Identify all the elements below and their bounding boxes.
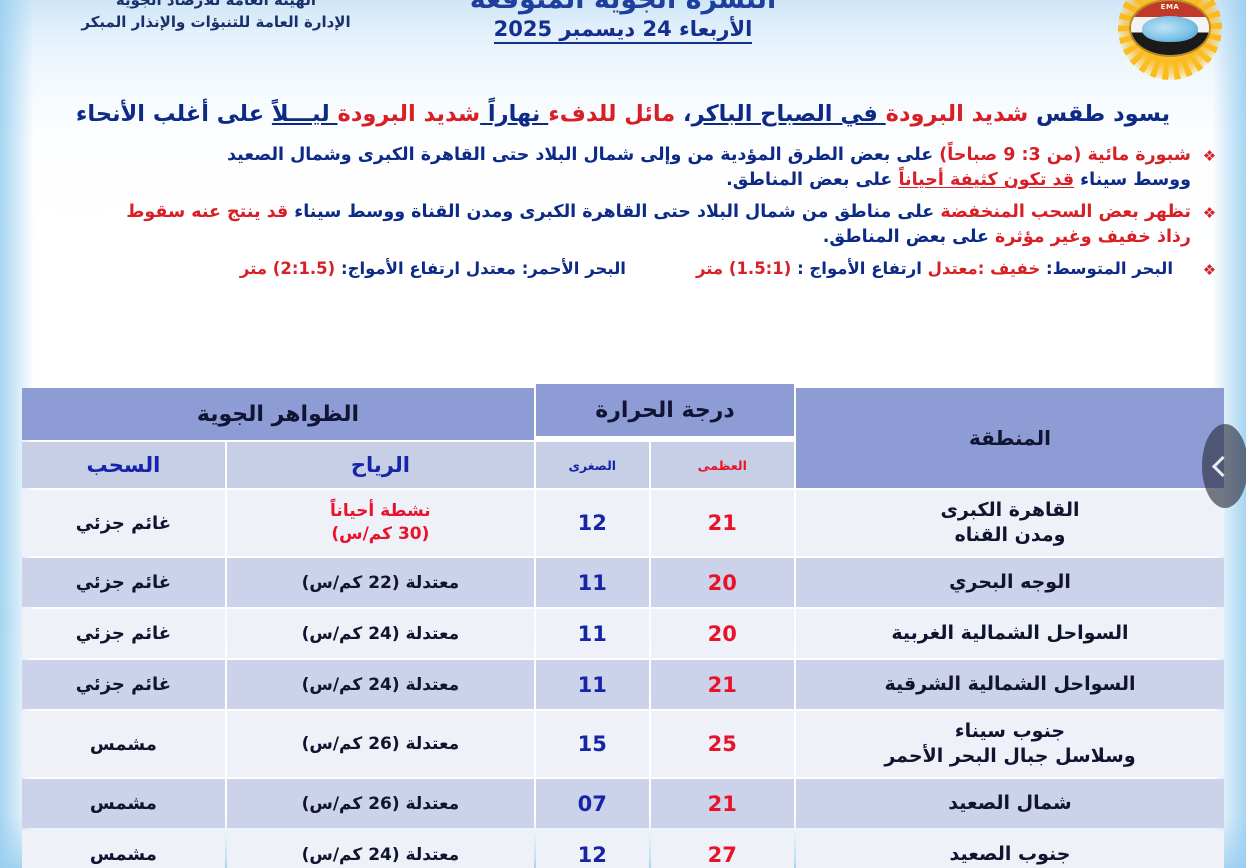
table-row: الوجه البحري2011معتدلة (22 كم/س)غائم جزئ… [22,558,1224,607]
cell-max-temp: 21 [651,779,794,828]
cell-cloud: مشمس [22,711,225,777]
bullet-sea-state: ❖ البحر المتوسط: خفيف :معتدل ارتفاع الأم… [20,257,1218,280]
mediterranean-state-value: خفيف :معتدل [928,259,1041,278]
redsea-label: البحر الأحمر: [522,259,626,278]
cell-max-temp: 21 [651,490,794,556]
cell-wind: معتدلة (26 كم/س) [227,779,534,828]
forecast-table-head: المنطقة درجة الحرارة الظواهر الجوية العظ… [22,388,1224,488]
headline-cold-2: شديد البرودة [338,101,481,127]
clouds-text-1: على مناطق من شمال البلاد حتى القاهرة الك… [288,202,940,222]
chevron-right-icon [1211,455,1232,476]
cloud-icon [1142,16,1198,42]
cell-min-temp: 11 [536,609,649,658]
bulletin-date: الأربعاء 24 ديسمبر 2025 [494,17,753,44]
clouds-text-2: على بعض المناطق. [823,227,995,247]
table-row: جنوب سيناءوسلاسل جبال البحر الأحمر2515مع… [22,711,1224,777]
forecast-table-body: القاهرة الكبرىومدن القناه2112نشطة أحيانا… [22,490,1224,868]
table-row: السواحل الشمالية الغربية2011معتدلة (24 ك… [22,609,1224,658]
cell-wind: معتدلة (24 كم/س) [227,830,534,868]
cell-max-temp: 27 [651,830,794,868]
agency-name-block: الهيئة العامة للأرصاد الجوية الإدارة الع… [66,0,366,34]
mediterranean-label: البحر المتوسط: [1046,259,1173,278]
headline-part-9: على أغلب الأنحاء [76,101,272,127]
headline-part-3: في الصباح الباكر [692,101,886,127]
col-header-max-temp: العظمى [651,442,794,488]
cell-cloud: غائم جزئي [22,490,225,556]
egyptian-meteorological-authority-logo: EMA [1116,0,1224,70]
col-header-temperature: درجة الحرارة [536,384,794,436]
table-row: السواحل الشمالية الشرقية2111معتدلة (24 ك… [22,660,1224,709]
carousel-next-button[interactable] [1202,424,1246,508]
table-row: القاهرة الكبرىومدن القناه2112نشطة أحيانا… [22,490,1224,556]
fog-text-3: على بعض المناطق. [726,170,898,190]
headline-part-8: ليـــلاً [272,101,338,127]
clouds-title: تظهر بعض السحب المنخفضة [940,202,1191,222]
redsea-wave-value: (2:1.5) متر [240,259,335,278]
cell-cloud: مشمس [22,830,225,868]
cell-min-temp: 12 [536,490,649,556]
group-header-row: المنطقة درجة الحرارة الظواهر الجوية [22,388,1224,440]
table-row: شمال الصعيد2107معتدلة (26 كم/س)مشمس [22,779,1224,828]
fog-text-2: ووسط سيناء [1074,170,1191,190]
cell-max-temp: 21 [651,660,794,709]
col-header-phenomena: الظواهر الجوية [22,388,534,440]
headline-part-1: يسود طقس [1028,101,1170,127]
cell-wind: نشطة أحياناً(30 كم/س) [227,490,534,556]
cell-wind: معتدلة (26 كم/س) [227,711,534,777]
bullet-low-clouds: ❖ تظهر بعض السحب المنخفضة على مناطق من ش… [20,200,1218,250]
diamond-bullet-icon: ❖ [1201,146,1218,166]
cell-region: القاهرة الكبرىومدن القناه [796,490,1224,556]
bullet-fog: ❖ شبورة مائية (من 3: 9 صباحاً) على بعض ا… [20,143,1218,193]
forecast-table-container: المنطقة درجة الحرارة الظواهر الجوية العظ… [20,386,1226,844]
emblem-badge: EMA [1131,1,1209,55]
cell-min-temp: 07 [536,779,649,828]
col-header-cloud: السحب [22,442,225,488]
cell-max-temp: 25 [651,711,794,777]
col-header-min-temp: الصغرى [536,442,649,488]
headline-part-4: ، [675,101,691,127]
drizzle-warning: رذاذ خفيف وغير مؤثرة [995,227,1191,247]
bullet-fog-body: شبورة مائية (من 3: 9 صباحاً) على بعض الط… [20,143,1191,193]
headline-part-6: نهاراً [480,101,548,127]
clouds-result: قد ينتج عنه سقوط [126,202,288,222]
headline-cold-1: شديد البرودة [886,101,1029,127]
fog-text-1: على بعض الطرق المؤدية من وإلى شمال البلا… [227,145,939,165]
cell-min-temp: 15 [536,711,649,777]
agency-line-2: الإدارة العامة للتنبؤات والإنذار المبكر [66,12,366,34]
cell-cloud: غائم جزئي [22,660,225,709]
cell-cloud: غائم جزئي [22,558,225,607]
cell-min-temp: 11 [536,660,649,709]
headline-summary: يسود طقس شديد البرودة في الصباح الباكر، … [34,100,1212,129]
bullet-low-clouds-body: تظهر بعض السحب المنخفضة على مناطق من شما… [20,200,1191,250]
bullet-sea-body: البحر المتوسط: خفيف :معتدل ارتفاع الأموا… [20,257,1191,280]
cell-min-temp: 12 [536,830,649,868]
emblem-label: EMA [1131,3,1209,11]
mediterranean-sea-state: البحر المتوسط: خفيف :معتدل ارتفاع الأموا… [696,257,1173,280]
diamond-bullet-icon: ❖ [1201,203,1218,223]
fog-time-range: شبورة مائية (من 3: 9 صباحاً) [939,145,1191,165]
table-row: جنوب الصعيد2712معتدلة (24 كم/س)مشمس [22,830,1224,868]
cell-cloud: مشمس [22,779,225,828]
mediterranean-wave-value: (1.5:1) متر [696,259,791,278]
cell-min-temp: 11 [536,558,649,607]
cell-region: السواحل الشمالية الغربية [796,609,1224,658]
cell-max-temp: 20 [651,558,794,607]
bullet-list: ❖ شبورة مائية (من 3: 9 صباحاً) على بعض ا… [20,143,1218,280]
red-sea-state: البحر الأحمر: معتدل ارتفاع الأمواج: (2:1… [240,257,626,280]
diamond-bullet-icon: ❖ [1201,260,1218,280]
agency-line-1: الهيئة العامة للأرصاد الجوية [66,0,366,12]
cell-region: السواحل الشمالية الشرقية [796,660,1224,709]
cell-wind: معتدلة (24 كم/س) [227,609,534,658]
cell-wind: معتدلة (22 كم/س) [227,558,534,607]
fog-density-warning: قد تكون كثيفة أحياناً [898,170,1074,190]
col-header-region: المنطقة [796,388,1224,488]
cell-region: جنوب الصعيد [796,830,1224,868]
cell-region: الوجه البحري [796,558,1224,607]
cell-region: جنوب سيناءوسلاسل جبال البحر الأحمر [796,711,1224,777]
headline-mild: مائل للدفء [548,101,675,127]
cell-region: شمال الصعيد [796,779,1224,828]
redsea-wave-label: ارتفاع الأمواج: [341,259,460,278]
redsea-state-value: معتدل [466,259,516,278]
cell-wind: معتدلة (24 كم/س) [227,660,534,709]
bulletin-header: EMA الهيئة العامة للأرصاد الجوية الإدارة… [0,0,1246,70]
mediterranean-wave-label: ارتفاع الأمواج : [797,259,922,278]
cell-max-temp: 20 [651,609,794,658]
col-header-wind: الرياح [227,442,534,488]
forecast-table: المنطقة درجة الحرارة الظواهر الجوية العظ… [20,386,1226,868]
cell-cloud: غائم جزئي [22,609,225,658]
